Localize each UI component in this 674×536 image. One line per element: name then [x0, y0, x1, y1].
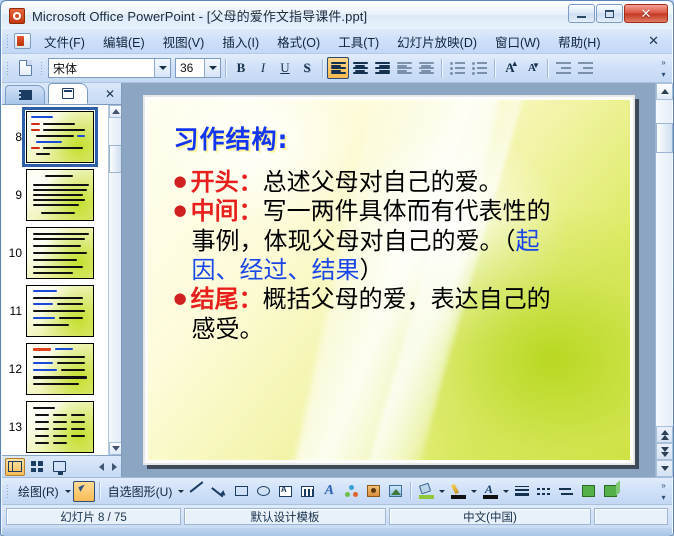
numbered-list-icon — [450, 62, 465, 74]
slide-sorter-icon — [31, 461, 43, 472]
slide-number: 10 — [4, 246, 22, 260]
close-icon: ✕ — [641, 7, 652, 20]
align-right-button[interactable] — [371, 57, 393, 79]
slide-thumbnail-8[interactable] — [26, 111, 94, 163]
slide-bullet-line[interactable]: ● 结尾：概括父母的爱，表达自己的 — [174, 286, 618, 313]
slide-show-icon — [53, 461, 66, 472]
slide-sorter-button[interactable] — [27, 458, 47, 476]
status-bar: 幻灯片 8 / 75 默认设计模板 中文(中国) — [2, 504, 672, 528]
slide-vertical-scrollbar[interactable] — [655, 83, 672, 477]
clip-art-icon — [367, 485, 380, 497]
rectangle-icon — [235, 486, 248, 496]
align-left-button[interactable] — [327, 57, 349, 79]
italic-icon: I — [261, 60, 265, 76]
menu-edit[interactable]: 编辑(E) — [94, 28, 154, 55]
select-arrow-icon — [79, 485, 89, 498]
status-slide-indicator: 幻灯片 8 / 75 — [6, 508, 181, 525]
italic-button[interactable]: I — [252, 57, 274, 79]
picture-icon — [389, 485, 402, 497]
wordart-icon: A — [325, 483, 334, 499]
fill-color-icon — [419, 484, 434, 499]
diagram-button[interactable] — [340, 481, 362, 502]
slide-show-button[interactable] — [49, 458, 69, 476]
picture-button[interactable] — [384, 481, 406, 502]
align-right-icon — [375, 62, 390, 74]
font-color-arrow[interactable] — [501, 481, 511, 502]
slide-bullet-line[interactable]: ● 中间：写一两件具体而有代表性的 — [174, 198, 618, 225]
slide-thumbnail-13[interactable] — [26, 401, 94, 453]
font-size-combobox[interactable]: 36 — [175, 58, 221, 78]
shadow-style-button[interactable] — [577, 481, 599, 502]
decrease-font-size-button[interactable]: A▼ — [521, 57, 543, 79]
arrow-icon — [212, 484, 226, 498]
text-box-button[interactable] — [274, 481, 296, 502]
menu-help[interactable]: 帮助(H) — [549, 28, 609, 55]
autoshapes-menu-arrow[interactable] — [176, 481, 186, 502]
drawing-toolbar: 绘图(R) 自选图形(U) A A »▾ — [2, 477, 672, 504]
scroll-down-button[interactable] — [656, 460, 673, 477]
menu-file[interactable]: 文件(F) — [35, 28, 94, 55]
window-controls: ✕ — [568, 4, 668, 23]
draw-menu-button[interactable]: 绘图(R) — [14, 481, 63, 502]
formatting-toolbar: 宋体 36 B I U S — [2, 54, 672, 83]
rectangle-button[interactable] — [230, 481, 252, 502]
outline-icon — [19, 90, 32, 100]
justify-button[interactable] — [393, 57, 415, 79]
oval-icon — [257, 486, 270, 496]
menu-slideshow[interactable]: 幻灯片放映(D) — [388, 28, 486, 55]
align-left-icon — [331, 62, 346, 74]
3d-style-icon — [604, 485, 617, 497]
3d-style-button[interactable] — [599, 481, 621, 502]
maximize-button[interactable] — [596, 4, 623, 23]
powerpoint-window: Microsoft Office PowerPoint - [父母的爱作文指导课… — [0, 0, 674, 536]
current-slide[interactable]: 习作结构: ● 开头：总述父母对自己的爱。 ● 中间：写一两件具体而有代表性的 … — [143, 95, 635, 465]
list-item[interactable]: 13 — [2, 401, 108, 453]
font-name-value: 宋体 — [53, 60, 77, 77]
normal-view-button[interactable] — [5, 458, 25, 476]
slide-thumbnail-list: 8 — [2, 105, 121, 455]
previous-slide-button[interactable] — [656, 426, 673, 443]
next-slide-button[interactable] — [656, 443, 673, 460]
slides-icon — [62, 88, 74, 99]
toolbar-grip-1[interactable] — [6, 61, 10, 76]
line-color-icon — [451, 484, 466, 499]
increase-font-size-button[interactable]: A▲ — [499, 57, 521, 79]
slide-number: 8 — [4, 130, 22, 144]
list-item[interactable]: 8 — [2, 111, 108, 163]
close-pane-button[interactable]: ✕ — [105, 87, 115, 101]
slide-number: 12 — [4, 362, 22, 376]
line-icon — [190, 484, 204, 498]
clip-art-button[interactable] — [362, 481, 384, 502]
decrease-indent-button[interactable] — [552, 57, 574, 79]
distributed-button[interactable] — [415, 57, 437, 79]
slide-number: 11 — [4, 304, 22, 318]
hscroll-right-button[interactable] — [108, 460, 121, 474]
wordart-button[interactable]: A — [318, 481, 340, 502]
shadow-style-icon — [582, 485, 595, 497]
drawing-toolbar-grip[interactable] — [6, 484, 10, 499]
text-box-icon — [279, 486, 292, 497]
draw-menu-arrow[interactable] — [63, 481, 73, 502]
slide-continuation-line[interactable]: 因、经过、结果） — [174, 257, 618, 284]
line-style-button[interactable] — [511, 481, 533, 502]
view-buttons-bar — [2, 455, 121, 477]
font-color-button[interactable]: A — [479, 481, 501, 502]
arrow-style-icon — [559, 485, 573, 497]
new-slide-icon — [19, 60, 32, 76]
list-item[interactable]: 9 — [2, 169, 108, 221]
fill-color-arrow[interactable] — [437, 481, 447, 502]
line-style-icon — [515, 485, 529, 497]
dash-style-button[interactable] — [533, 481, 555, 502]
text-shadow-button[interactable]: S — [296, 57, 318, 79]
normal-view-icon — [8, 461, 22, 472]
vertical-text-box-button[interactable] — [296, 481, 318, 502]
decrease-indent-icon — [556, 62, 571, 74]
align-center-button[interactable] — [349, 57, 371, 79]
scrollbar-thumb[interactable] — [109, 145, 121, 173]
slide-line-text: 中间：写一两件具体而有代表性的 — [191, 198, 618, 225]
toolbar-overflow-button[interactable]: »▾ — [658, 56, 669, 80]
menu-insert[interactable]: 插入(I) — [213, 28, 268, 55]
font-name-combobox[interactable]: 宋体 — [48, 58, 171, 78]
slide-content: 习作结构: ● 开头：总述父母对自己的爱。 ● 中间：写一两件具体而有代表性的 … — [148, 100, 630, 460]
select-arrow-button[interactable] — [73, 481, 95, 502]
autoshapes-menu-button[interactable]: 自选图形(U) — [104, 481, 177, 502]
distributed-icon — [419, 62, 434, 74]
slide-thumbnail-10[interactable] — [26, 227, 94, 279]
arrow-style-button[interactable] — [555, 481, 577, 502]
minimize-button[interactable] — [568, 4, 595, 23]
align-center-icon — [353, 62, 368, 74]
slide-thumbnail-11[interactable] — [26, 285, 94, 337]
list-item[interactable]: 10 — [2, 227, 108, 279]
increase-font-size-icon: A▲ — [505, 60, 514, 76]
bullet-icon: ● — [174, 169, 187, 193]
justify-icon — [397, 62, 412, 74]
slide-line-text: 事例，体现父母对自己的爱。（起 — [192, 228, 618, 255]
numbered-list-button[interactable] — [446, 57, 468, 79]
arrow-button[interactable] — [208, 481, 230, 502]
status-language[interactable]: 中文(中国) — [389, 508, 591, 525]
shadow-icon: S — [303, 60, 310, 76]
toolbar-grip-2[interactable] — [40, 61, 44, 76]
drawing-toolbar-overflow-button[interactable]: »▾ — [658, 479, 669, 503]
diagram-icon — [345, 485, 358, 498]
status-design-template[interactable]: 默认设计模板 — [184, 508, 386, 525]
font-size-dropdown-arrow[interactable] — [204, 59, 220, 77]
window-title: Microsoft Office PowerPoint - [父母的爱作文指导课… — [32, 6, 367, 25]
slide-number: 9 — [4, 188, 22, 202]
font-name-dropdown-arrow[interactable] — [154, 59, 170, 77]
bold-button[interactable]: B — [230, 57, 252, 79]
bullet-icon: ● — [174, 286, 187, 310]
slide-thumbnail-9[interactable] — [26, 169, 94, 221]
slide-bullet-line[interactable]: ● 开头：总述父母对自己的爱。 — [174, 169, 618, 196]
new-slide-button[interactable] — [14, 57, 36, 79]
scroll-up-button[interactable] — [656, 83, 673, 100]
title-bar: Microsoft Office PowerPoint - [父母的爱作文指导课… — [2, 2, 672, 29]
slide-title[interactable]: 习作结构: — [174, 120, 618, 156]
menu-format[interactable]: 格式(O) — [268, 28, 329, 55]
decrease-font-size-icon: A▼ — [528, 62, 536, 74]
hscroll-left-button[interactable] — [95, 460, 108, 474]
underline-button[interactable]: U — [274, 57, 296, 79]
window-bottom-edge — [2, 528, 672, 536]
powerpoint-icon — [9, 8, 25, 24]
font-color-icon: A — [483, 484, 498, 499]
close-button[interactable]: ✕ — [624, 4, 668, 23]
list-item[interactable]: 12 — [2, 343, 108, 395]
status-extra — [594, 508, 668, 525]
slide-line-text: 感受。 — [192, 316, 618, 343]
outline-tab[interactable] — [5, 85, 45, 104]
work-area: ✕ 8 — [2, 83, 672, 477]
slide-pane: ✕ 8 — [2, 83, 122, 477]
slide-line-text: 结尾：概括父母的爱，表达自己的 — [191, 286, 618, 313]
slide-line-text: 开头：总述父母对自己的爱。 — [191, 169, 618, 196]
font-size-value: 36 — [180, 61, 193, 75]
vertical-scrollbar-thumb[interactable] — [656, 123, 673, 153]
slide-line-text: 因、经过、结果） — [192, 257, 618, 284]
vertical-text-box-icon — [301, 486, 314, 497]
slides-tab[interactable] — [48, 83, 88, 104]
bullet-icon: ● — [174, 198, 187, 222]
menu-window[interactable]: 窗口(W) — [486, 28, 549, 55]
increase-indent-icon — [578, 62, 593, 74]
scroll-down-button[interactable] — [109, 442, 121, 455]
increase-indent-button[interactable] — [574, 57, 596, 79]
slide-continuation-line[interactable]: 事例，体现父母对自己的爱。（起 — [174, 228, 618, 255]
oval-button[interactable] — [252, 481, 274, 502]
menu-view[interactable]: 视图(V) — [154, 28, 214, 55]
menu-bar: 文件(F) 编辑(E) 视图(V) 插入(I) 格式(O) 工具(T) 幻灯片放… — [2, 29, 672, 54]
bulleted-list-icon — [472, 62, 487, 74]
line-button[interactable] — [186, 481, 208, 502]
slide-pane-scrollbar[interactable] — [108, 105, 121, 455]
scroll-up-button[interactable] — [109, 105, 121, 118]
slide-pane-tabs: ✕ — [2, 83, 121, 105]
underline-icon: U — [280, 60, 289, 76]
menu-tools[interactable]: 工具(T) — [329, 28, 388, 55]
slide-continuation-line[interactable]: 感受。 — [174, 316, 618, 343]
bold-icon: B — [237, 60, 246, 76]
document-icon — [14, 33, 31, 49]
line-color-arrow[interactable] — [469, 481, 479, 502]
fill-color-button[interactable] — [415, 481, 437, 502]
dash-style-icon — [537, 485, 551, 497]
list-item[interactable]: 11 — [2, 285, 108, 337]
slide-number: 13 — [4, 420, 22, 434]
slide-thumbnail-12[interactable] — [26, 343, 94, 395]
menu-grip[interactable] — [6, 34, 10, 49]
bulleted-list-button[interactable] — [468, 57, 490, 79]
line-color-button[interactable] — [447, 481, 469, 502]
slide-canvas-area[interactable]: 习作结构: ● 开头：总述父母对自己的爱。 ● 中间：写一两件具体而有代表性的 … — [122, 83, 655, 477]
close-document-button[interactable]: ✕ — [643, 32, 664, 50]
